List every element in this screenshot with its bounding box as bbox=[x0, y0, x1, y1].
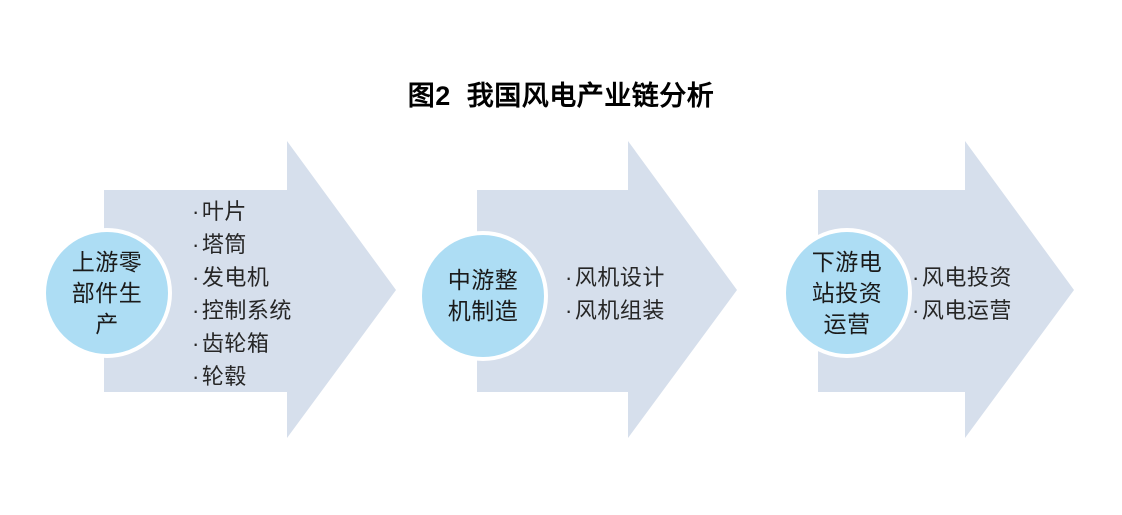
list-item-label: 齿轮箱 bbox=[202, 331, 270, 356]
bullet-dot-icon: · bbox=[192, 265, 200, 290]
stage-circle-upstream[interactable]: 上游零 部件生 产 bbox=[42, 228, 172, 358]
bullet-dot-icon: · bbox=[192, 331, 200, 356]
list-item-label: 叶片 bbox=[202, 199, 247, 224]
list-item: ·发电机 bbox=[192, 261, 292, 294]
bullet-dot-icon: · bbox=[912, 265, 920, 290]
bullet-dot-icon: · bbox=[192, 232, 200, 257]
list-item: ·轮毂 bbox=[192, 360, 292, 393]
list-item-label: 风电投资 bbox=[922, 265, 1012, 290]
list-item: ·塔筒 bbox=[192, 228, 292, 261]
list-item: ·风电投资 bbox=[912, 261, 1012, 294]
list-item-label: 发电机 bbox=[202, 265, 270, 290]
stage-items-midstream: ·风机设计 ·风机组装 bbox=[565, 261, 665, 327]
list-item: ·风电运营 bbox=[912, 294, 1012, 327]
list-item-label: 控制系统 bbox=[202, 298, 292, 323]
chevron-arrow-layer bbox=[0, 0, 1122, 515]
list-item-label: 轮毂 bbox=[202, 364, 247, 389]
bullet-dot-icon: · bbox=[565, 265, 573, 290]
stage-items-upstream: ·叶片 ·塔筒 ·发电机 ·控制系统 ·齿轮箱 ·轮毂 bbox=[192, 195, 292, 393]
stage-items-downstream: ·风电投资 ·风电运营 bbox=[912, 261, 1012, 327]
stage-circle-midstream-label: 中游整 机制造 bbox=[435, 265, 531, 327]
stage-circle-downstream[interactable]: 下游电 站投资 运营 bbox=[782, 228, 912, 358]
list-item: ·风机设计 bbox=[565, 261, 665, 294]
bullet-dot-icon: · bbox=[192, 298, 200, 323]
list-item-label: 风电运营 bbox=[922, 298, 1012, 323]
list-item-label: 塔筒 bbox=[202, 232, 247, 257]
list-item: ·叶片 bbox=[192, 195, 292, 228]
bullet-dot-icon: · bbox=[192, 199, 200, 224]
list-item-label: 风机设计 bbox=[575, 265, 665, 290]
stage-circle-downstream-label: 下游电 站投资 运营 bbox=[799, 247, 895, 340]
list-item: ·齿轮箱 bbox=[192, 327, 292, 360]
stage-circle-upstream-label: 上游零 部件生 产 bbox=[59, 247, 155, 340]
bullet-dot-icon: · bbox=[565, 298, 573, 323]
figure-canvas: 图2 我国风电产业链分析 上游零 部件生 产 ·叶片 ·塔筒 ·发电机 ·控制系… bbox=[0, 0, 1122, 515]
bullet-dot-icon: · bbox=[912, 298, 920, 323]
bullet-dot-icon: · bbox=[192, 364, 200, 389]
list-item-label: 风机组装 bbox=[575, 298, 665, 323]
list-item: ·风机组装 bbox=[565, 294, 665, 327]
stage-circle-midstream[interactable]: 中游整 机制造 bbox=[418, 231, 548, 361]
list-item: ·控制系统 bbox=[192, 294, 292, 327]
